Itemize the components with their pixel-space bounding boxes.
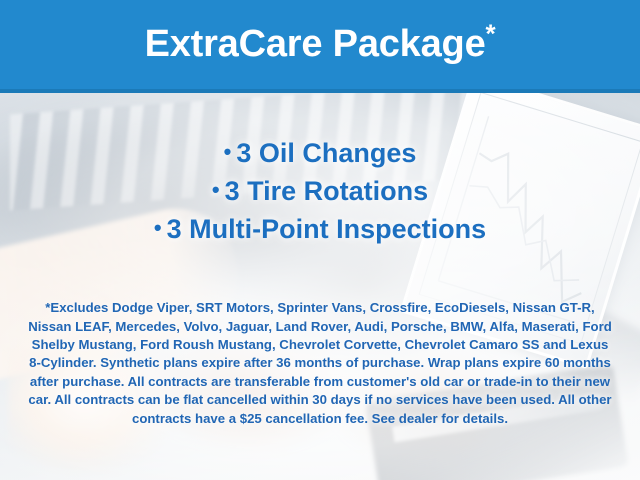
- benefit-label: 3 Tire Rotations: [225, 176, 429, 206]
- header-banner: ExtraCare Package*: [0, 0, 640, 89]
- bullet-dot-icon: •: [224, 139, 232, 164]
- disclaimer-text: *Excludes Dodge Viper, SRT Motors, Sprin…: [26, 299, 614, 428]
- benefit-label: 3 Multi-Point Inspections: [167, 214, 487, 244]
- page-title-asterisk: *: [486, 18, 496, 48]
- header-banner-bottom-edge: [0, 89, 640, 93]
- extracare-package-promo-card: ExtraCare Package* •3 Oil Changes •3 Tir…: [0, 0, 640, 480]
- list-item: •3 Tire Rotations: [0, 173, 640, 211]
- list-item: •3 Oil Changes: [0, 135, 640, 173]
- bullet-dot-icon: •: [154, 215, 162, 240]
- bullet-dot-icon: •: [212, 177, 220, 202]
- benefit-label: 3 Oil Changes: [236, 138, 416, 168]
- page-title: ExtraCare Package*: [145, 25, 496, 63]
- benefits-list: •3 Oil Changes •3 Tire Rotations •3 Mult…: [0, 135, 640, 249]
- page-title-text: ExtraCare Package: [145, 23, 486, 65]
- list-item: •3 Multi-Point Inspections: [0, 211, 640, 249]
